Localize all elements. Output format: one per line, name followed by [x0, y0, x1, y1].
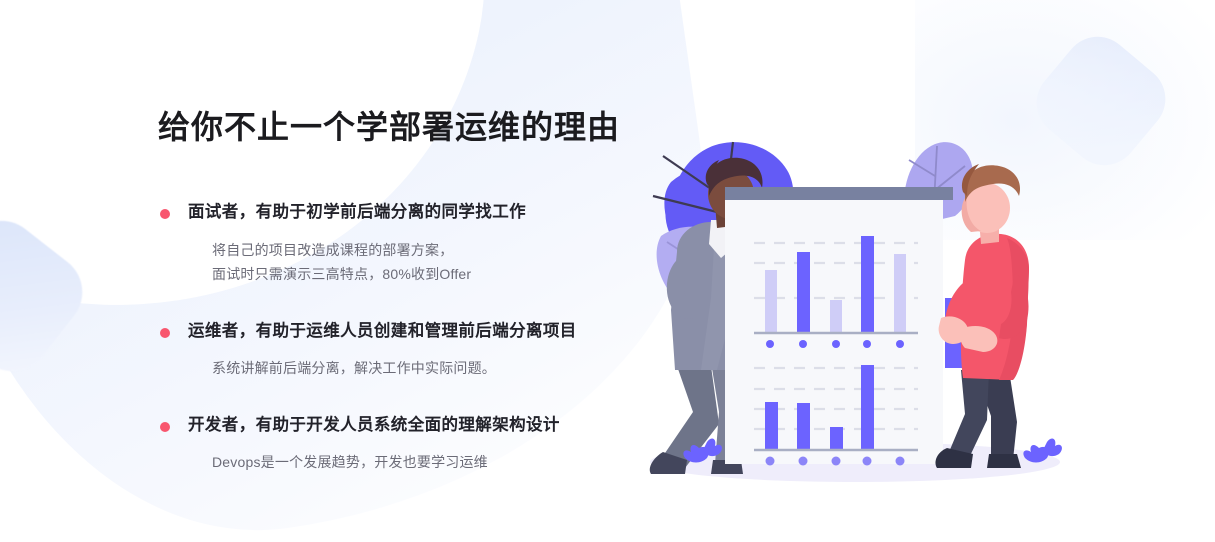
- list-item-description: 系统讲解前后端分离，解决工作中实际问题。: [188, 356, 628, 381]
- bar: [765, 402, 778, 449]
- list-item: 运维者，有助于运维人员创建和管理前后端分离项目 系统讲解前后端分离，解决工作中实…: [158, 321, 628, 381]
- list-item-title: 开发者，有助于开发人员系统全面的理解架构设计: [188, 415, 628, 436]
- bullet-dot-icon: [160, 328, 170, 338]
- list-item-title: 运维者，有助于运维人员创建和管理前后端分离项目: [188, 321, 628, 342]
- list-item: 面试者，有助于初学前后端分离的同学找工作 将自己的项目改造成课程的部署方案， 面…: [158, 202, 628, 286]
- list-item-description: 将自己的项目改造成课程的部署方案， 面试时只需演示三高特点，80%收到Offer: [188, 238, 628, 287]
- chart-board: [725, 187, 953, 466]
- bar: [861, 236, 874, 332]
- board-top-bar: [725, 187, 953, 200]
- page-title: 给你不止一个学部署运维的理由: [158, 108, 628, 146]
- text-column: 给你不止一个学部署运维的理由 面试者，有助于初学前后端分离的同学找工作 将自己的…: [158, 108, 628, 475]
- description-line: 系统讲解前后端分离，解决工作中实际问题。: [212, 356, 628, 381]
- bar: [894, 254, 906, 332]
- promo-section: 给你不止一个学部署运维的理由 面试者，有助于初学前后端分离的同学找工作 将自己的…: [0, 0, 1215, 542]
- bullet-dot-icon: [160, 422, 170, 432]
- bar: [861, 365, 874, 449]
- description-line: 将自己的项目改造成课程的部署方案，: [212, 238, 628, 263]
- bullet-dot-icon: [160, 209, 170, 219]
- list-item-title: 面试者，有助于初学前后端分离的同学找工作: [188, 202, 628, 223]
- description-line: Devops是一个发展趋势，开发也要学习运维: [212, 450, 628, 475]
- bar: [830, 300, 842, 332]
- list-item: 开发者，有助于开发人员系统全面的理解架构设计 Devops是一个发展趋势，开发也…: [158, 415, 628, 475]
- background-blob-left: [0, 206, 98, 387]
- illustration-people-with-charts: [615, 112, 1085, 512]
- bar: [797, 403, 810, 449]
- list-item-description: Devops是一个发展趋势，开发也要学习运维: [188, 450, 628, 475]
- bar: [797, 252, 810, 332]
- bar: [765, 270, 777, 332]
- benefits-list: 面试者，有助于初学前后端分离的同学找工作 将自己的项目改造成课程的部署方案， 面…: [158, 202, 628, 474]
- description-line: 面试时只需演示三高特点，80%收到Offer: [212, 262, 628, 287]
- bar: [830, 427, 843, 449]
